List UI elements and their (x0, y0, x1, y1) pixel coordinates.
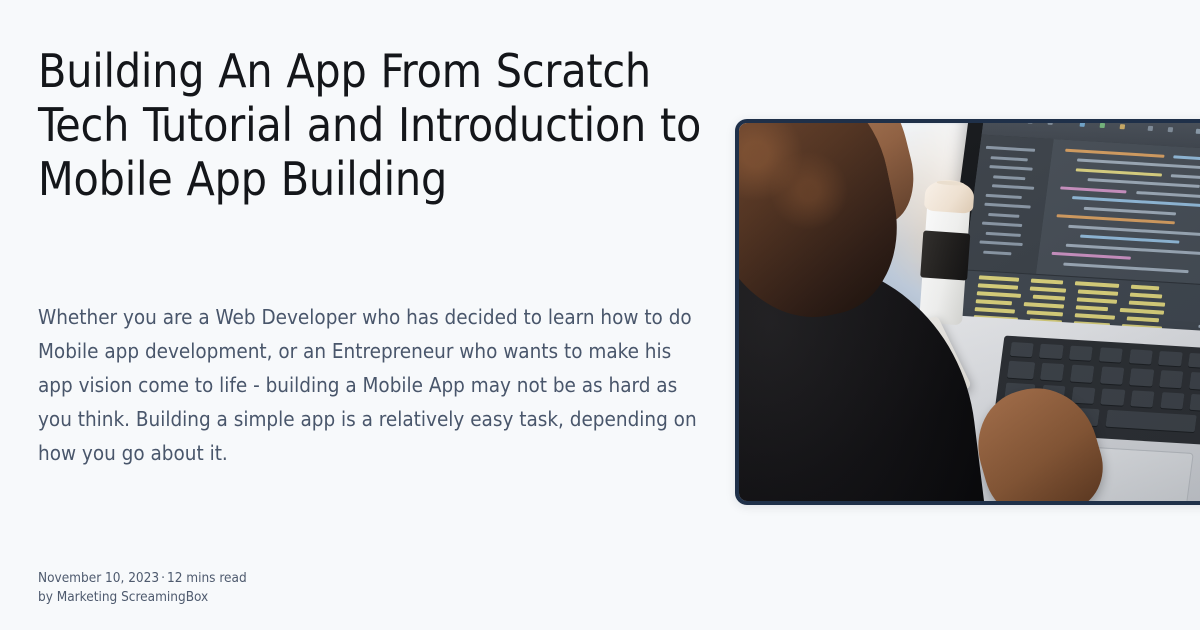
meta-separator: · (159, 570, 167, 586)
ide-code-editor (1036, 140, 1200, 295)
hero-image (739, 123, 1200, 501)
meta-date-readtime: November 10, 2023·12 mins read (38, 569, 247, 588)
article-meta: November 10, 2023·12 mins read by Market… (38, 569, 247, 607)
publish-date: November 10, 2023 (38, 570, 159, 586)
read-time: 12 mins read (167, 570, 247, 586)
hero-image-frame (735, 119, 1200, 505)
author-byline: by Marketing ScreamingBox (38, 588, 247, 607)
cup-sleeve (920, 230, 970, 281)
cup-lid (924, 178, 975, 213)
social-share-card: Building An App From Scratch Tech Tutori… (0, 0, 1200, 630)
coffee-cup (916, 178, 975, 325)
article-excerpt: Whether you are a Web Developer who has … (38, 300, 710, 470)
page-title: Building An App From Scratch Tech Tutori… (38, 44, 728, 206)
article-text-column: Building An App From Scratch Tech Tutori… (38, 0, 718, 630)
cup-lid-opening (936, 180, 963, 185)
